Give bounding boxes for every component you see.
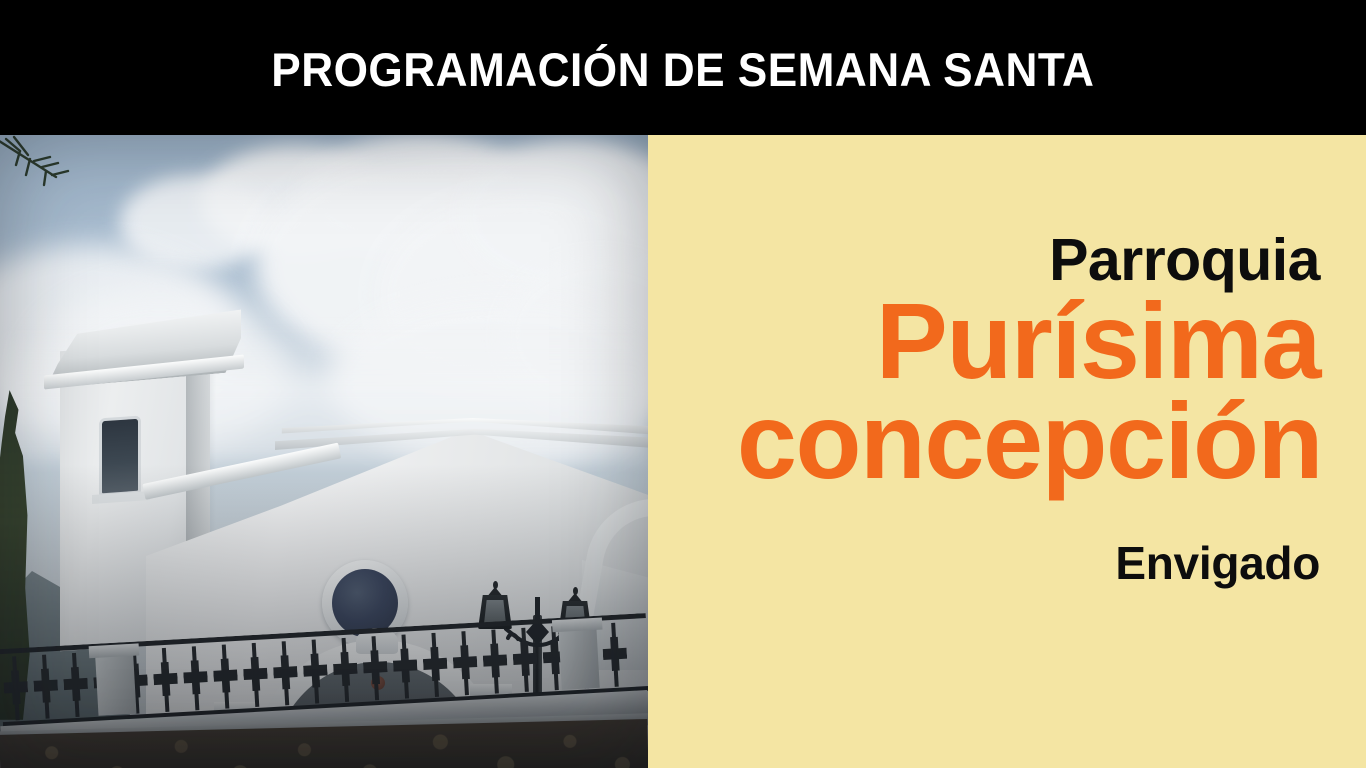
railing-pillar (95, 648, 137, 716)
info-panel: Parroquia Purísima concepción Envigado (648, 135, 1366, 768)
page-title: PROGRAMACIÓN DE SEMANA SANTA (271, 46, 1094, 93)
railing-pillar (558, 622, 600, 690)
roof-cornice (144, 418, 648, 436)
parish-name-block: Parroquia Purísima concepción Envigado (648, 231, 1320, 586)
church-photo (0, 135, 648, 768)
poster-canvas: PROGRAMACIÓN DE SEMANA SANTA (0, 0, 1366, 768)
parish-location: Envigado (648, 540, 1320, 586)
tower-window (102, 419, 138, 494)
pine-branch-icon (0, 135, 99, 205)
photo-composition (0, 135, 648, 768)
roof-cornice-lower (140, 428, 648, 450)
parish-name-line-2: concepción (648, 386, 1322, 496)
header-bar: PROGRAMACIÓN DE SEMANA SANTA (0, 0, 1366, 135)
